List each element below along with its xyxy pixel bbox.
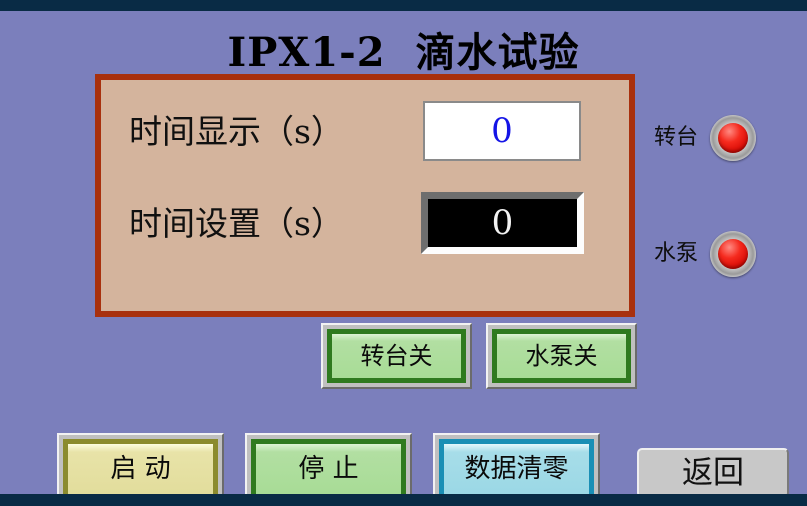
- start-label: 启 动: [110, 456, 170, 482]
- time-display-field: 0: [423, 101, 581, 161]
- clear-data-label: 数据清零: [464, 456, 568, 482]
- hmi-screen: IPX1-2 滴水试验 时间显示（s） 0 时间设置（s） 0 转台 水泵: [0, 11, 807, 494]
- stop-label: 停 止: [298, 456, 358, 482]
- turntable-off-label: 转台关: [361, 344, 433, 368]
- bottom-status-bar: [0, 494, 807, 506]
- time-panel: 时间显示（s） 0 时间设置（s） 0: [95, 74, 635, 317]
- led-bulb: [718, 239, 748, 269]
- time-setting-input[interactable]: 0: [421, 192, 584, 254]
- turntable-off-button[interactable]: 转台关: [321, 323, 472, 389]
- time-setting-value: 0: [492, 206, 514, 240]
- time-display-row: 时间显示（s） 0: [129, 100, 613, 162]
- pump-off-label: 水泵关: [526, 344, 598, 368]
- button-face: 水泵关: [492, 329, 631, 383]
- indicator-turntable: 转台: [654, 115, 756, 161]
- button-face: 启 动: [63, 439, 218, 499]
- time-setting-label: 时间设置（s）: [129, 207, 419, 240]
- button-face: 转台关: [327, 329, 466, 383]
- led-indicator-pump-icon: [710, 231, 756, 277]
- time-display-value: 0: [491, 114, 513, 148]
- back-label: 返回: [682, 458, 744, 489]
- indicator-turntable-label: 转台: [654, 127, 698, 149]
- top-status-bar: [0, 0, 807, 11]
- back-button[interactable]: 返回: [637, 448, 789, 498]
- pump-off-button[interactable]: 水泵关: [486, 323, 637, 389]
- indicator-pump-label: 水泵: [654, 243, 698, 265]
- led-bulb: [718, 123, 748, 153]
- time-setting-row: 时间设置（s） 0: [129, 192, 613, 254]
- button-face: 数据清零: [439, 439, 594, 499]
- indicator-pump: 水泵: [654, 231, 756, 277]
- button-face: 停 止: [251, 439, 406, 499]
- time-display-label: 时间显示（s）: [129, 115, 419, 148]
- led-indicator-turntable-icon: [710, 115, 756, 161]
- page-title: IPX1-2 滴水试验: [0, 20, 807, 78]
